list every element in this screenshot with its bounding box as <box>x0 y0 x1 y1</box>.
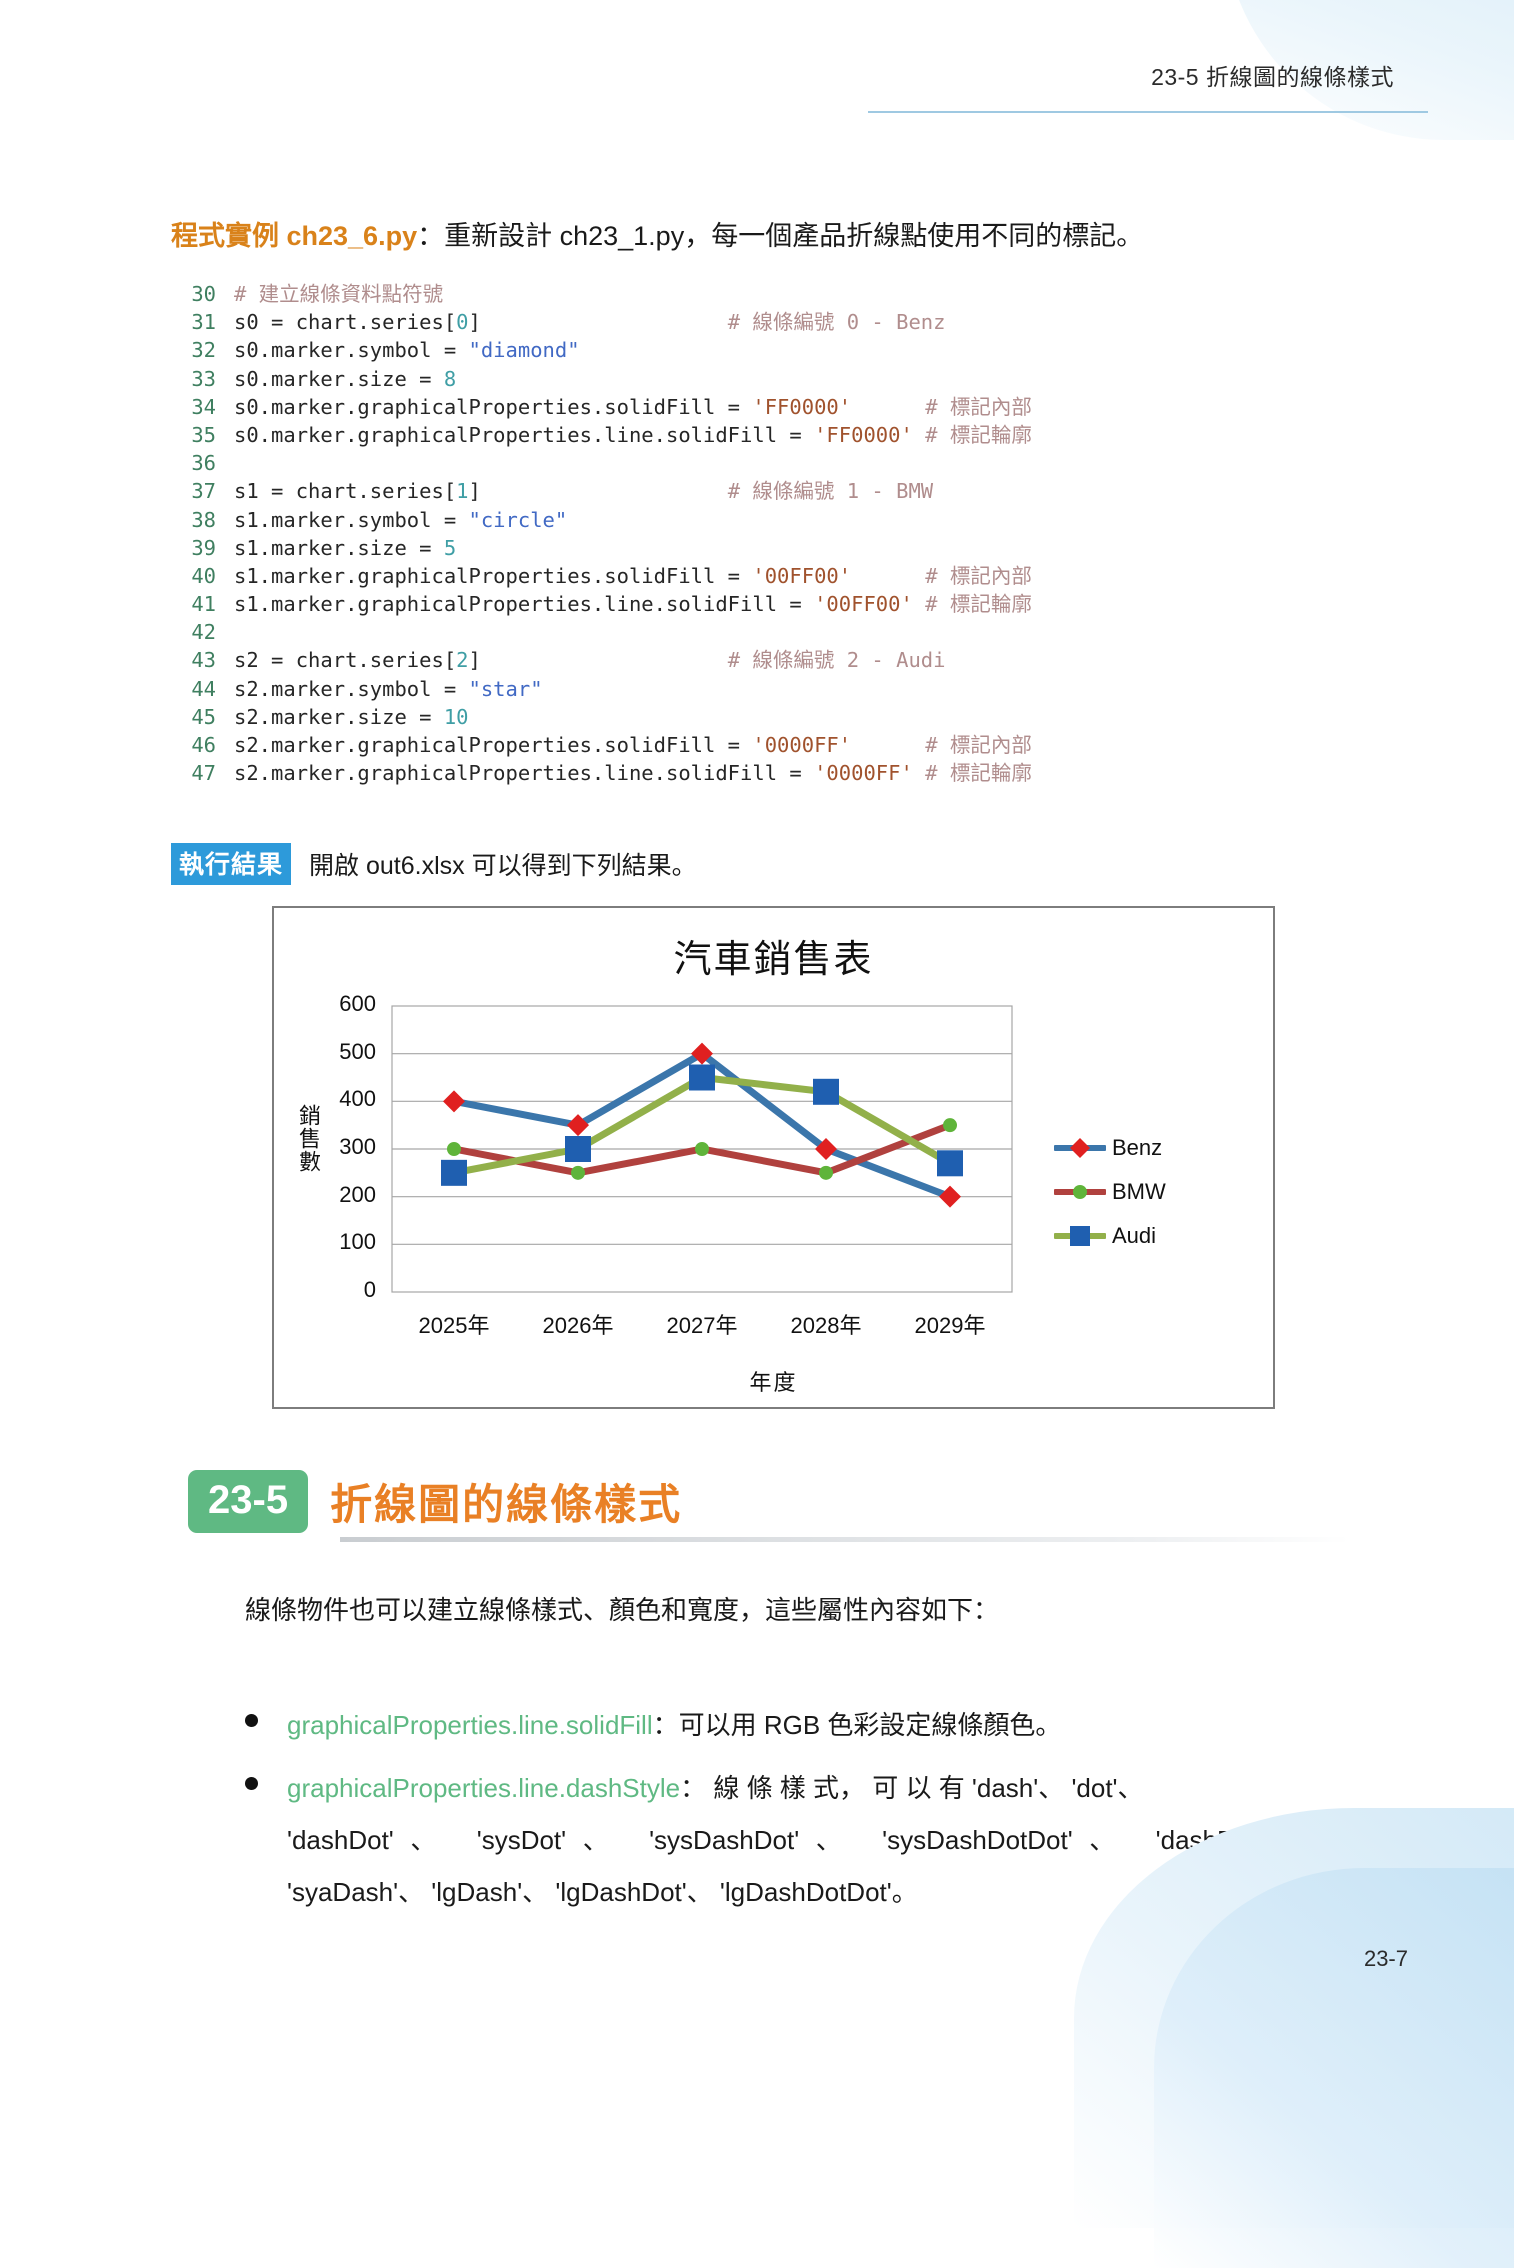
code-line-number: 31 <box>176 308 216 336</box>
code-token <box>481 310 728 334</box>
code-line: 47s2.marker.graphicalProperties.line.sol… <box>176 759 1032 787</box>
example-label: 程式實例 ch23_6.py <box>171 221 417 251</box>
code-line: 34s0.marker.graphicalProperties.solidFil… <box>176 393 1032 421</box>
chart-data-marker <box>1070 1226 1090 1246</box>
code-token: "diamond" <box>469 338 580 362</box>
header-divider <box>868 111 1428 113</box>
bullet-text: graphicalProperties.line.dashStyle： 線 條 … <box>287 1763 1345 1813</box>
code-token: ] <box>469 479 481 503</box>
code-line: 38s1.marker.symbol = "circle" <box>176 506 1032 534</box>
example-caption: 程式實例 ch23_6.py：重新設計 ch23_1.py，每一個產品折線點使用… <box>171 214 1143 253</box>
chart-legend: BenzBMWAudi <box>1054 1126 1166 1258</box>
chart-data-marker <box>689 1065 715 1091</box>
result-description: 開啟 out6.xlsx 可以得到下列結果。 <box>309 846 697 882</box>
chart-data-marker <box>1070 1138 1090 1158</box>
bullet-desc: ：可以用 RGB 色彩設定線條顏色。 <box>653 1710 1062 1740</box>
chart-y-tick-label: 200 <box>339 1182 376 1208</box>
code-token: s1.marker.graphicalProperties.solidFill … <box>234 564 752 588</box>
bullet-dot-icon <box>245 1777 258 1790</box>
code-line-number: 33 <box>176 365 216 393</box>
chart-inner: 汽車銷售表 銷售數 0100200300400500600 2025年2026年… <box>274 908 1273 1407</box>
section-heading: 23-5折線圖的線條樣式 <box>188 1470 682 1533</box>
code-token: 10 <box>444 705 469 729</box>
code-line-number: 42 <box>176 618 216 646</box>
chart-data-marker <box>937 1150 963 1176</box>
code-line: 30# 建立線條資料點符號 <box>176 280 1032 308</box>
bullet-code: graphicalProperties.line.dashStyle <box>287 1773 680 1803</box>
chart-y-tick-label: 0 <box>364 1277 376 1303</box>
code-token <box>481 648 728 672</box>
chart-x-tick-label: 2026年 <box>543 1308 614 1340</box>
code-listing: 30# 建立線條資料點符號31s0 = chart.series[0] # 線條… <box>176 280 1032 787</box>
code-line-number: 36 <box>176 449 216 477</box>
chart-plot-area <box>392 1006 1012 1292</box>
code-line: 36 <box>176 449 1032 477</box>
chart-legend-marker <box>1072 1184 1088 1200</box>
code-token: "star" <box>469 677 543 701</box>
code-token: # 標記內部 <box>925 564 1032 588</box>
code-token: s0.marker.size = <box>234 367 444 391</box>
code-token: ] <box>469 310 481 334</box>
code-token: # 標記內部 <box>925 733 1032 757</box>
chart-y-tick-label: 500 <box>339 1039 376 1065</box>
code-line: 45s2.marker.size = 10 <box>176 703 1032 731</box>
result-row: 執行結果開啟 out6.xlsx 可以得到下列結果。 <box>171 843 697 885</box>
code-line: 32s0.marker.symbol = "diamond" <box>176 336 1032 364</box>
chart-x-axis-title: 年度 <box>274 1365 1273 1397</box>
code-token: s0.marker.graphicalProperties.solidFill … <box>234 395 752 419</box>
chart-x-tick-label: 2025年 <box>419 1308 490 1340</box>
code-token: 5 <box>444 536 456 560</box>
code-line: 44s2.marker.symbol = "star" <box>176 675 1032 703</box>
code-token: 0 <box>456 310 468 334</box>
code-line: 39s1.marker.size = 5 <box>176 534 1032 562</box>
bullet-continuation-text: 'dashDot'、 'sysDot'、 'sysDashDot'、 'sysD… <box>287 1815 1305 1865</box>
chart-data-marker <box>819 1166 833 1180</box>
code-token: s2 = chart.series[ <box>234 648 456 672</box>
code-token: # 線條編號 0 - Benz <box>728 310 946 334</box>
chart-data-marker <box>1073 1185 1087 1199</box>
chart-legend-label: BMW <box>1112 1181 1166 1203</box>
chart-data-marker <box>565 1136 591 1162</box>
code-line-number: 38 <box>176 506 216 534</box>
code-line-number: 43 <box>176 646 216 674</box>
code-token: 8 <box>444 367 456 391</box>
code-token: s1.marker.graphicalProperties.line.solid… <box>234 592 814 616</box>
code-token: s2.marker.symbol = <box>234 677 469 701</box>
bullet-desc: ： 線 條 樣 式， 可 以 有 'dash'、 'dot'、 <box>680 1773 1143 1803</box>
code-token: # 建立線條資料點符號 <box>234 282 443 306</box>
code-token: s1 = chart.series[ <box>234 479 456 503</box>
chart-legend-item: BMW <box>1054 1170 1166 1214</box>
bullet-code: graphicalProperties.line.solidFill <box>287 1710 653 1740</box>
header-section-reference: 23-5 折線圖的線條樣式 <box>1151 58 1394 92</box>
chart-data-marker <box>695 1142 709 1156</box>
code-line: 35s0.marker.graphicalProperties.line.sol… <box>176 421 1032 449</box>
code-line-number: 34 <box>176 393 216 421</box>
code-token: "circle" <box>469 508 568 532</box>
section-underline <box>340 1537 1350 1542</box>
chart-data-marker <box>571 1166 585 1180</box>
chart-y-axis-title: 銷售數 <box>292 1104 324 1173</box>
code-token: s0.marker.symbol = <box>234 338 469 362</box>
code-line-number: 45 <box>176 703 216 731</box>
code-line-number: 41 <box>176 590 216 618</box>
code-token: 2 <box>456 648 468 672</box>
chart-x-tick-label: 2028年 <box>791 1308 862 1340</box>
bullet-item-dashstyle: graphicalProperties.line.dashStyle： 線 條 … <box>245 1763 1345 1813</box>
code-line-number: 40 <box>176 562 216 590</box>
chart-legend-item: Benz <box>1054 1126 1166 1170</box>
code-token: s2.marker.graphicalProperties.line.solid… <box>234 761 814 785</box>
code-line: 31s0 = chart.series[0] # 線條編號 0 - Benz <box>176 308 1032 336</box>
chart-legend-swatch <box>1054 1137 1106 1159</box>
chart-legend-swatch <box>1054 1225 1106 1247</box>
code-token: # 標記輪廓 <box>925 761 1032 785</box>
bullet-continuation-line-1: 'dashDot'、 'sysDot'、 'sysDashDot'、 'sysD… <box>245 1815 1305 1865</box>
code-token: # 標記輪廓 <box>925 423 1032 447</box>
chart-x-axis-ticks: 2025年2026年2027年2028年2029年 <box>274 1308 1273 1338</box>
code-token: 'FF0000' <box>752 395 851 419</box>
code-line: 37s1 = chart.series[1] # 線條編號 1 - BMW <box>176 477 1032 505</box>
code-token: s1.marker.size = <box>234 536 444 560</box>
code-token: '00FF00' <box>814 592 913 616</box>
chart-legend-swatch <box>1054 1181 1106 1203</box>
code-line-number: 37 <box>176 477 216 505</box>
code-token <box>851 564 925 588</box>
result-badge: 執行結果 <box>171 843 291 885</box>
code-line-number: 32 <box>176 336 216 364</box>
code-token: s2.marker.graphicalProperties.solidFill … <box>234 733 752 757</box>
chart-y-tick-label: 100 <box>339 1229 376 1255</box>
code-line-number: 47 <box>176 759 216 787</box>
chart-data-marker <box>939 1186 961 1208</box>
code-token <box>913 423 925 447</box>
code-token: '00FF00' <box>752 564 851 588</box>
chart-x-tick-label: 2029年 <box>915 1308 986 1340</box>
bullet-dot-icon <box>245 1714 258 1727</box>
code-line-number: 39 <box>176 534 216 562</box>
bullet-text: graphicalProperties.line.solidFill：可以用 R… <box>287 1700 1345 1750</box>
code-token: # 線條編號 2 - Audi <box>728 648 946 672</box>
code-token: 1 <box>456 479 468 503</box>
code-line: 46s2.marker.graphicalProperties.solidFil… <box>176 731 1032 759</box>
chart-legend-label: Audi <box>1112 1225 1156 1247</box>
code-line: 40s1.marker.graphicalProperties.solidFil… <box>176 562 1032 590</box>
code-token: # 標記輪廓 <box>925 592 1032 616</box>
code-token: s2.marker.size = <box>234 705 444 729</box>
chart-y-tick-label: 600 <box>339 991 376 1017</box>
example-description: ：重新設計 ch23_1.py，每一個產品折線點使用不同的標記。 <box>417 221 1143 251</box>
chart-title: 汽車銷售表 <box>274 928 1273 983</box>
code-token <box>913 592 925 616</box>
chart-y-tick-label: 300 <box>339 1134 376 1160</box>
code-line-number: 46 <box>176 731 216 759</box>
code-line-number: 44 <box>176 675 216 703</box>
bullet-item-solidfill: graphicalProperties.line.solidFill：可以用 R… <box>245 1700 1345 1750</box>
code-token: # 標記內部 <box>925 395 1032 419</box>
chart-legend-marker <box>1069 1225 1091 1247</box>
code-line: 42 <box>176 618 1032 646</box>
chart-legend-item: Audi <box>1054 1214 1166 1258</box>
chart-data-marker <box>813 1079 839 1105</box>
code-token <box>851 733 925 757</box>
chart-y-tick-label: 400 <box>339 1086 376 1112</box>
code-token <box>913 761 925 785</box>
chart-series-line <box>454 1078 950 1173</box>
chart-x-tick-label: 2027年 <box>667 1308 738 1340</box>
code-token <box>851 395 925 419</box>
chart-data-marker <box>441 1160 467 1186</box>
code-token: s0.marker.graphicalProperties.line.solid… <box>234 423 814 447</box>
chart-legend-label: Benz <box>1112 1137 1162 1159</box>
code-line: 41s1.marker.graphicalProperties.line.sol… <box>176 590 1032 618</box>
code-token: # 線條編號 1 - BMW <box>728 479 933 503</box>
chart-data-marker <box>443 1090 465 1112</box>
code-token: '0000FF' <box>814 761 913 785</box>
code-token: 'FF0000' <box>814 423 913 447</box>
section-title: 折線圖的線條樣式 <box>330 1471 682 1532</box>
code-line: 33s0.marker.size = 8 <box>176 365 1032 393</box>
chart-legend-marker <box>1069 1137 1091 1159</box>
code-line-number: 30 <box>176 280 216 308</box>
intro-paragraph: 線條物件也可以建立線條樣式、顏色和寬度，這些屬性內容如下： <box>245 1588 1305 1632</box>
code-token <box>481 479 728 503</box>
code-token: ] <box>469 648 481 672</box>
chart-data-marker <box>447 1142 461 1156</box>
page-number: 23-7 <box>1364 1946 1408 1972</box>
code-line-number: 35 <box>176 421 216 449</box>
chart-data-marker <box>943 1118 957 1132</box>
page-header: 23-5 折線圖的線條樣式 <box>0 0 1514 140</box>
code-line: 43s2 = chart.series[2] # 線條編號 2 - Audi <box>176 646 1032 674</box>
chart-screenshot: 汽車銷售表 銷售數 0100200300400500600 2025年2026年… <box>272 906 1275 1409</box>
section-number-badge: 23-5 <box>188 1470 308 1533</box>
code-token: s1.marker.symbol = <box>234 508 469 532</box>
code-token: '0000FF' <box>752 733 851 757</box>
code-token: s0 = chart.series[ <box>234 310 456 334</box>
chart-svg <box>392 1006 1012 1292</box>
